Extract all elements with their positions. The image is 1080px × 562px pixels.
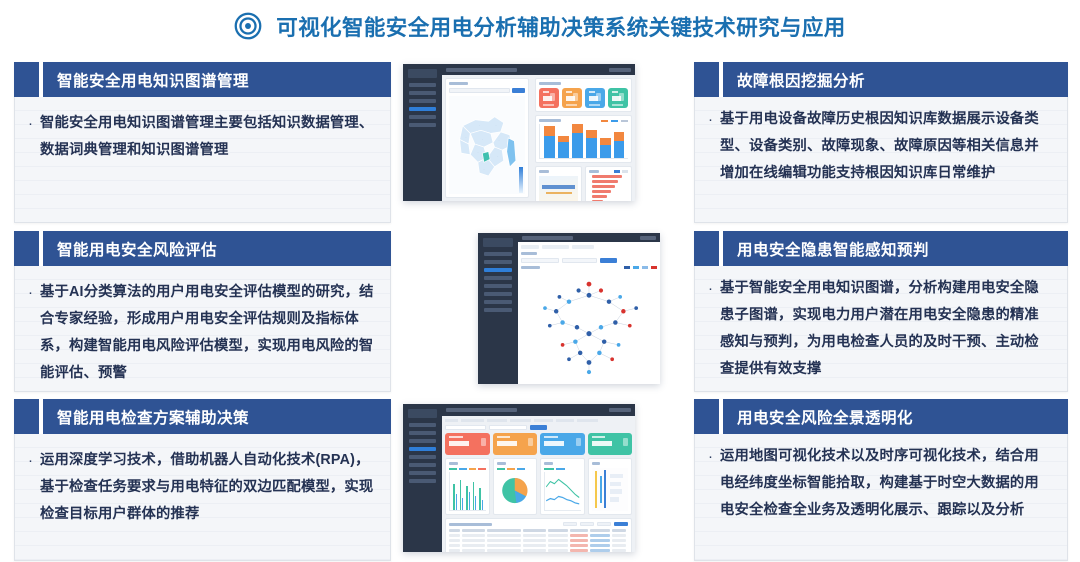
screenshot-sidebar xyxy=(403,404,442,552)
card-body: · 基于用电设备故障历史根因知识库数据展示设备类型、设备类别、故障现象、故障原因… xyxy=(695,97,1067,222)
bar xyxy=(600,138,611,158)
screenshot-main: ···· ···· ···· ···· xyxy=(442,64,635,201)
sidebar-item-active xyxy=(484,268,512,272)
feature-card: 智能用电检查方案辅助决策 · 运用深度学习技术，借助机器人自动化技术(RPA)，… xyxy=(14,399,391,561)
sidebar-item xyxy=(484,276,512,280)
screenshot-topbar xyxy=(442,64,635,75)
card-title: 智能用电安全风险评估 xyxy=(57,238,217,260)
sidebar-item xyxy=(409,439,436,443)
bullet-dot-icon: · xyxy=(25,447,33,474)
poster-image-panel xyxy=(535,166,582,201)
table-row xyxy=(449,549,628,552)
screenshot-topbar xyxy=(442,404,635,416)
breadcrumb-tabs-row[interactable] xyxy=(445,419,632,422)
sidebar-logo xyxy=(408,69,437,78)
kpi-card xyxy=(585,88,605,108)
bar xyxy=(586,130,597,158)
bullet-dot-icon: · xyxy=(25,110,33,137)
card-left-row1-wrapper: 智能安全用电知识图谱管理 · 智能安全用电知识图谱管理主要包括知识数据管理、数据… xyxy=(14,62,391,223)
kpi-card xyxy=(540,433,584,455)
bar xyxy=(614,132,625,158)
card-body: · 基于智能安全用电知识图谱，分析构建用电安全隐患子图谱，实现电力用户潜在用电安… xyxy=(695,266,1067,391)
bar-group xyxy=(460,480,463,510)
card-header: 用电安全隐患智能感知预判 xyxy=(694,231,1068,266)
card-title: 智能安全用电知识图谱管理 xyxy=(57,69,249,91)
kpi-row xyxy=(445,433,632,455)
bullet-item: · 运用地图可视化技术以及时序可视化技术，结合用电经纬度坐标智能拾取，构建基于时… xyxy=(705,443,1051,524)
sidebar-item xyxy=(409,463,436,467)
card-header: 故障根因挖掘分析 xyxy=(694,62,1068,97)
sidebar-item xyxy=(484,292,512,296)
screenshot-main xyxy=(442,404,635,552)
schedule-panel xyxy=(588,458,632,515)
knowledge-graph-screenshot xyxy=(478,233,660,384)
data-table-panel xyxy=(445,518,632,552)
card-left-row2-wrapper: 智能用电安全风险评估 · 基于AI分类算法的用户用电安全评估模型的研究，结合专家… xyxy=(14,231,391,392)
card-title: 智能用电检查方案辅助决策 xyxy=(57,406,249,428)
card-header: 智能用电安全风险评估 xyxy=(14,231,391,266)
header-title-bar: 故障根因挖掘分析 xyxy=(723,62,1068,97)
table-row xyxy=(449,539,628,542)
card-bullet-text: 基于AI分类算法的用户用电安全评估模型的研究，结合专家经验，形成用户用电安全评估… xyxy=(40,279,374,387)
card-header: 智能安全用电知识图谱管理 xyxy=(14,62,391,97)
bullet-item: · 基于智能安全用电知识图谱，分析构建用电安全隐患子图谱，实现电力用户潜在用电安… xyxy=(705,275,1051,383)
card-right-row2-wrapper: 用电安全隐患智能感知预判 · 基于智能安全用电知识图谱，分析构建用电安全隐患子图… xyxy=(694,231,1068,392)
header-title-bar: 智能安全用电知识图谱管理 xyxy=(43,62,391,97)
stacked-bar-chart-panel xyxy=(535,115,632,163)
kpi-card xyxy=(539,88,559,108)
feature-card: 用电安全风险全景透明化 · 运用地图可视化技术以及时序可视化技术，结合用电经纬度… xyxy=(694,399,1068,561)
stacked-bars xyxy=(540,124,628,158)
bar xyxy=(572,124,583,158)
horizontal-bars xyxy=(589,175,628,201)
screenshot-content xyxy=(442,416,635,552)
card-right-row3-wrapper: 用电安全风险全景透明化 · 运用地图可视化技术以及时序可视化技术，结合用电经纬度… xyxy=(694,399,1068,561)
bar-group xyxy=(453,484,456,510)
table-header-row xyxy=(449,529,628,532)
sidebar-item xyxy=(409,471,436,475)
slide-title-row: 可视化智能安全用电分析辅助决策系统关键技术研究与应用 xyxy=(0,6,1080,46)
card-title: 故障根因挖掘分析 xyxy=(737,69,865,91)
screenshot-content: ···· ···· ···· ···· xyxy=(442,75,635,201)
header-title-bar: 用电安全隐患智能感知预判 xyxy=(723,231,1068,266)
feature-card: 故障根因挖掘分析 · 基于用电设备故障历史根因知识库数据展示设备类型、设备类别、… xyxy=(694,62,1068,223)
card-bullet-text: 基于智能安全用电知识图谱，分析构建用电安全隐患子图谱，实现电力用户潜在用电安全隐… xyxy=(720,275,1051,383)
china-region-map: ···· ···· ···· ···· xyxy=(449,96,525,194)
data-table xyxy=(449,529,628,552)
card-bullet-text: 运用地图可视化技术以及时序可视化技术，结合用电经纬度坐标智能拾取，构建基于时空大… xyxy=(720,443,1051,524)
card-header: 用电安全风险全景透明化 xyxy=(694,399,1068,434)
feature-card: 智能安全用电知识图谱管理 · 智能安全用电知识图谱管理主要包括知识数据管理、数据… xyxy=(14,62,391,223)
pie-chart-panel xyxy=(493,458,537,515)
sidebar-item-active xyxy=(409,107,436,111)
table-row xyxy=(449,544,628,547)
header-accent-block xyxy=(14,399,39,434)
card-body: · 基于AI分类算法的用户用电安全评估模型的研究，结合专家经验，形成用户用电安全… xyxy=(15,266,390,391)
slide-root: 可视化智能安全用电分析辅助决策系统关键技术研究与应用 智能安全用电知识图谱管理 … xyxy=(0,0,1080,562)
bar-group xyxy=(473,482,476,510)
card-left-row3-wrapper: 智能用电检查方案辅助决策 · 运用深度学习技术，借助机器人自动化技术(RPA)，… xyxy=(14,399,391,561)
sidebar-item xyxy=(409,455,436,459)
kpi-card xyxy=(562,88,582,108)
header-accent-block xyxy=(694,399,719,434)
sidebar-item xyxy=(484,252,512,256)
card-bullet-text: 基于用电设备故障历史根因知识库数据展示设备类型、设备类别、故障现象、故障原因等相… xyxy=(720,106,1051,187)
header-title-bar: 智能用电安全风险评估 xyxy=(43,231,391,266)
kpi-card xyxy=(608,88,628,108)
graph-filter-row[interactable] xyxy=(521,258,657,263)
bar xyxy=(544,126,555,158)
map-panel: ···· ···· ···· ···· xyxy=(445,78,529,198)
bar-group xyxy=(479,488,482,510)
bullet-item: · 运用深度学习技术，借助机器人自动化技术(RPA)，基于检查任务要求与用电特征… xyxy=(25,447,374,528)
bullet-dot-icon: · xyxy=(705,275,713,302)
analytics-dashboard-screenshot xyxy=(403,404,635,552)
network-graph-canvas[interactable] xyxy=(521,272,657,381)
horizontal-bar-panel xyxy=(585,166,632,201)
sidebar-item xyxy=(484,300,512,304)
card-body: · 运用深度学习技术，借助机器人自动化技术(RPA)，基于检查任务要求与用电特征… xyxy=(15,434,390,560)
kpi-panel xyxy=(535,78,632,112)
bar-group xyxy=(466,486,469,510)
bullet-item: · 基于AI分类算法的用户用电安全评估模型的研究，结合专家经验，形成用户用电安全… xyxy=(25,279,374,387)
bar xyxy=(558,136,569,158)
filter-row[interactable] xyxy=(445,425,632,430)
feature-card: 智能用电安全风险评估 · 基于AI分类算法的用户用电安全评估模型的研究，结合专家… xyxy=(14,231,391,392)
header-title-bar: 用电安全风险全景透明化 xyxy=(723,399,1068,434)
screenshot-sidebar xyxy=(403,64,442,201)
sidebar-item xyxy=(409,123,436,127)
card-bullet-text: 智能安全用电知识图谱管理主要包括知识数据管理、数据词典管理和知识图谱管理 xyxy=(40,110,374,164)
card-body: · 运用地图可视化技术以及时序可视化技术，结合用电经纬度坐标智能拾取，构建基于时… xyxy=(695,434,1067,560)
feature-card: 用电安全隐患智能感知预判 · 基于智能安全用电知识图谱，分析构建用电安全隐患子图… xyxy=(694,231,1068,392)
bullet-dot-icon: · xyxy=(705,443,713,470)
table-row xyxy=(449,534,628,537)
header-accent-block xyxy=(14,231,39,266)
kpi-card xyxy=(445,433,489,455)
sidebar-item xyxy=(484,284,512,288)
screenshot-topbar xyxy=(518,233,660,242)
bullet-item: · 智能安全用电知识图谱管理主要包括知识数据管理、数据词典管理和知识图谱管理 xyxy=(25,110,374,164)
header-accent-block xyxy=(14,62,39,97)
card-body: · 智能安全用电知识图谱管理主要包括知识数据管理、数据词典管理和知识图谱管理 xyxy=(15,97,390,222)
sidebar-item xyxy=(409,115,436,119)
bullet-dot-icon: · xyxy=(25,279,33,306)
map-dashboard-screenshot: ···· ···· ···· ···· xyxy=(403,64,635,201)
header-accent-block xyxy=(694,62,719,97)
card-header: 智能用电检查方案辅助决策 xyxy=(14,399,391,434)
sidebar-item xyxy=(409,91,436,95)
header-accent-block xyxy=(694,231,719,266)
screenshot-sidebar xyxy=(478,233,518,384)
sidebar-item xyxy=(409,479,436,483)
sidebar-item xyxy=(409,83,436,87)
grouped-bar-chart-panel xyxy=(445,458,489,515)
sidebar-item xyxy=(409,423,436,427)
page-title: 可视化智能安全用电分析辅助决策系统关键技术研究与应用 xyxy=(276,11,845,42)
sidebar-item xyxy=(409,99,436,103)
bullet-dot-icon: · xyxy=(705,106,713,133)
card-title: 用电安全隐患智能感知预判 xyxy=(737,238,929,260)
sidebar-item xyxy=(409,431,436,435)
bullet-item: · 基于用电设备故障历史根因知识库数据展示设备类型、设备类别、故障现象、故障原因… xyxy=(705,106,1051,187)
sidebar-logo xyxy=(483,238,513,247)
sidebar-logo xyxy=(408,409,437,418)
line-chart-panel xyxy=(540,458,584,515)
screenshot-main xyxy=(518,233,660,384)
sidebar-item-active xyxy=(409,447,436,451)
card-title: 用电安全风险全景透明化 xyxy=(737,406,913,428)
line-chart xyxy=(545,472,580,510)
sidebar-item xyxy=(484,260,512,264)
kpi-card xyxy=(588,433,632,455)
header-title-bar: 智能用电检查方案辅助决策 xyxy=(43,399,391,434)
pie-chart xyxy=(498,472,531,509)
kpi-row xyxy=(539,88,628,108)
target-circles-icon xyxy=(234,12,262,40)
card-bullet-text: 运用深度学习技术，借助机器人自动化技术(RPA)，基于检查任务要求与用电特征的双… xyxy=(40,447,374,528)
card-right-row1-wrapper: 故障根因挖掘分析 · 基于用电设备故障历史根因知识库数据展示设备类型、设备类别、… xyxy=(694,62,1068,223)
kpi-card xyxy=(493,433,537,455)
sidebar-item xyxy=(484,308,512,312)
